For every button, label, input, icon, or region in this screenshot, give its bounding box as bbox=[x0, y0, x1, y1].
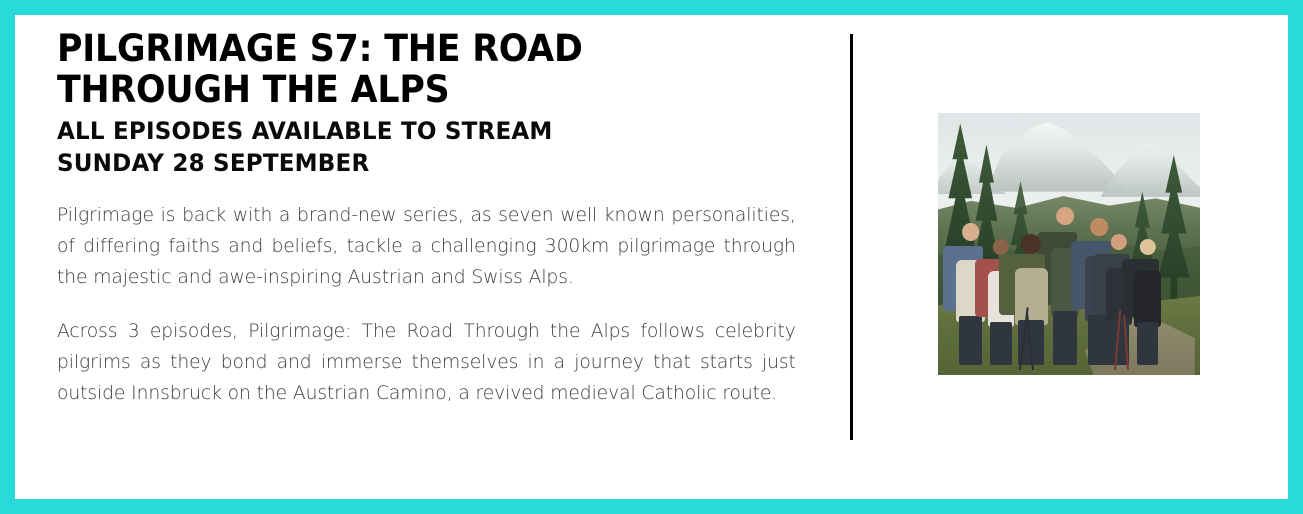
hiker-head bbox=[1021, 234, 1041, 254]
hiker-head bbox=[1139, 239, 1155, 255]
subhead-block: All Episodes Available to Stream Sunday … bbox=[57, 115, 777, 179]
description-paragraph-1: Pilgrimage is back with a brand-new seri… bbox=[57, 200, 796, 293]
hiker-torso bbox=[1015, 268, 1048, 326]
hiker-legs bbox=[1137, 322, 1158, 365]
hiker-head bbox=[1111, 234, 1127, 250]
hiker-head bbox=[962, 223, 980, 241]
card-inner: Pilgrimage S7: The Road Through the Alps… bbox=[15, 15, 1288, 499]
promo-card: Pilgrimage S7: The Road Through the Alps… bbox=[0, 0, 1303, 514]
hiker-legs bbox=[990, 322, 1011, 365]
page-title: Pilgrimage S7: The Road Through the Alps bbox=[57, 28, 762, 110]
photo-canvas bbox=[938, 113, 1200, 375]
hiker-torso bbox=[1134, 271, 1160, 326]
hiker-head bbox=[993, 239, 1009, 255]
text-column: Pilgrimage S7: The Road Through the Alps… bbox=[57, 28, 807, 409]
promo-photo bbox=[938, 113, 1200, 375]
hiker-head bbox=[1056, 207, 1074, 225]
vertical-divider bbox=[850, 34, 853, 440]
hiker-figure bbox=[1132, 239, 1163, 365]
hiker-legs bbox=[1053, 311, 1076, 364]
description-paragraph-2: Across 3 episodes, Pilgrimage: The Road … bbox=[57, 316, 796, 409]
air-date-line: Sunday 28 September bbox=[57, 147, 777, 179]
hiker-legs bbox=[959, 316, 982, 364]
availability-line: All Episodes Available to Stream bbox=[57, 115, 777, 147]
